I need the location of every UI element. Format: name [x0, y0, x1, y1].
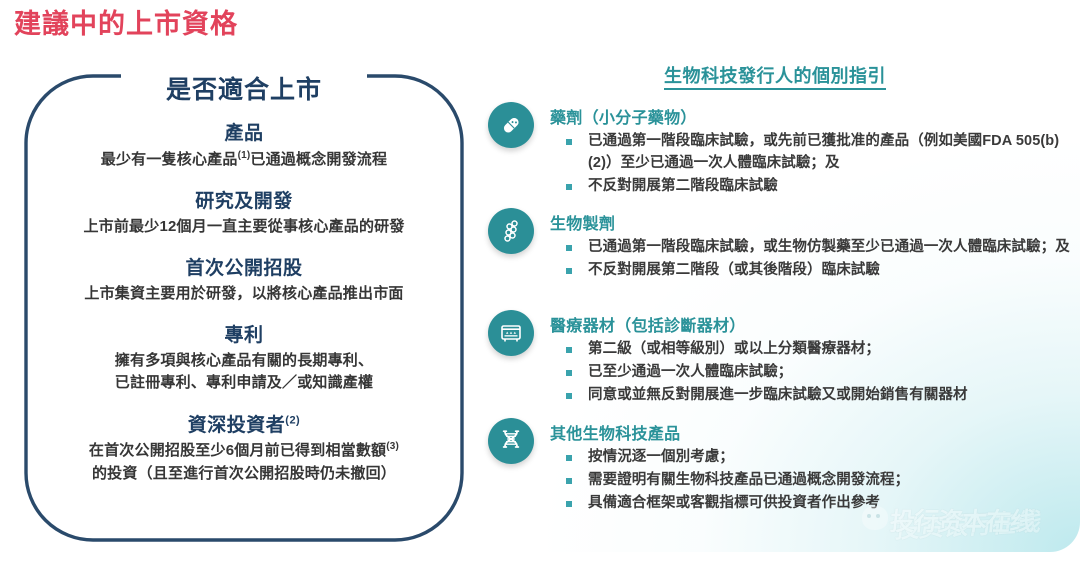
list-item: 需要證明有關生物科技產品已通過概念開發流程；	[564, 470, 1078, 492]
page-title: 建議中的上市資格	[14, 2, 238, 41]
right-panel-title: 生物科技發行人的個別指引	[470, 62, 1080, 88]
criterion-desc: 上市前最少12個月一直主要從事核心產品的研發	[26, 216, 462, 239]
list-item: 第二級（或相等級別）或以上分類醫療器材；	[564, 339, 1078, 361]
footnote-ref-3: (3)	[386, 441, 399, 452]
criterion-product: 產品 最少有一隻核心產品(1)已通過概念開發流程	[26, 120, 462, 171]
guidance-group-title: 藥劑（小分子藥物）	[550, 104, 1078, 128]
molecule-chain-icon	[488, 208, 534, 254]
criterion-rnd: 研究及開發 上市前最少12個月一直主要從事核心產品的研發	[26, 188, 462, 238]
criterion-ipo: 首次公開招股 上市集資主要用於研發，以將核心產品推出市面	[26, 255, 462, 305]
left-panel-heading-wrap: 是否適合上市	[121, 70, 367, 106]
list-item: 已通過第一階段臨床試驗，或先前已獲批准的產品（例如美國FDA 505(b)(2)…	[564, 131, 1078, 175]
criterion-desc-line1: 在首次公開招股至少6個月前已得到相當數額(3)	[26, 439, 462, 463]
right-panel-title-text: 生物科技發行人的個別指引	[664, 66, 886, 90]
criterion-desc-pre: 在首次公開招股至少6個月前已得到相當數額	[89, 442, 386, 459]
criterion-desc: 上市集資主要用於研發，以將核心產品推出市面	[26, 283, 462, 306]
criterion-sophisticated-investor: 資深投資者(2) 在首次公開招股至少6個月前已得到相當數額(3) 的投資（且至進…	[26, 412, 462, 486]
medical-device-icon	[488, 310, 534, 356]
footnote-ref-2: (2)	[285, 414, 300, 426]
list-item: 不反對開展第二階段（或其後階段）臨床試驗	[564, 260, 1078, 282]
guidance-group-body: 其他生物科技產品 按情況逐一個別考慮； 需要證明有關生物科技產品已通過概念開發流…	[550, 420, 1078, 515]
left-panel-body: 產品 最少有一隻核心產品(1)已通過概念開發流程 研究及開發 上市前最少12個月…	[26, 120, 462, 502]
slide-root: 建議中的上市資格 是否適合上市 產品 最少有一隻核心產品(1)已通過概念開發流程…	[0, 0, 1080, 562]
guidance-group-body: 藥劑（小分子藥物） 已通過第一階段臨床試驗，或先前已獲批准的產品（例如美國FDA…	[550, 104, 1078, 198]
criterion-title-text: 資深投資者	[188, 415, 286, 436]
left-panel-heading: 是否適合上市	[121, 70, 367, 106]
guidance-bullet-list: 已通過第一階段臨床試驗，或生物仿製藥至少已通過一次人體臨床試驗；及 不反對開展第…	[550, 237, 1078, 282]
criterion-desc-post: 已通過概念開發流程	[250, 151, 387, 168]
list-item: 按情況逐一個別考慮；	[564, 447, 1078, 469]
guidance-group-title: 其他生物科技產品	[550, 420, 1078, 444]
list-item: 已至少通過一次人體臨床試驗；	[564, 362, 1078, 384]
criterion-title: 產品	[26, 120, 462, 148]
guidance-bullet-list: 按情況逐一個別考慮； 需要證明有關生物科技產品已通過概念開發流程； 具備適合框架…	[550, 447, 1078, 514]
guidance-group-body: 生物製劑 已通過第一階段臨床試驗，或生物仿製藥至少已通過一次人體臨床試驗；及 不…	[550, 210, 1078, 283]
guidance-bullet-list: 第二級（或相等級別）或以上分類醫療器材； 已至少通過一次人體臨床試驗； 同意或並…	[550, 339, 1078, 406]
criterion-desc: 最少有一隻核心產品(1)已通過概念開發流程	[26, 148, 462, 172]
criterion-desc-line2: 的投資（且至進行首次公開招股時仍未撤回）	[26, 463, 462, 486]
criterion-title: 資深投資者(2)	[26, 412, 462, 440]
list-item: 同意或並無反對開展進一步臨床試驗又或開始銷售有關器材	[564, 385, 1078, 407]
right-panel: 生物科技發行人的個別指引 藥劑（小分子藥物） 已通過第一階段臨床試驗，或	[470, 40, 1080, 562]
list-item: 具備適合框架或客觀指標可供投資者作出參考	[564, 493, 1078, 515]
dna-helix-icon	[488, 418, 534, 464]
list-item: 已通過第一階段臨床試驗，或生物仿製藥至少已通過一次人體臨床試驗；及	[564, 237, 1078, 259]
left-panel: 是否適合上市 產品 最少有一隻核心產品(1)已通過概念開發流程 研究及開發 上市…	[18, 68, 470, 548]
criterion-desc-pre: 最少有一隻核心產品	[101, 151, 238, 168]
criterion-desc-line2: 已註冊專利、專利申請及／或知識產權	[26, 372, 462, 395]
guidance-group-title: 醫療器材（包括診斷器材）	[550, 312, 1078, 336]
guidance-bullet-list: 已通過第一階段臨床試驗，或先前已獲批准的產品（例如美國FDA 505(b)(2)…	[550, 131, 1078, 197]
list-item: 不反對開展第二階段臨床試驗	[564, 176, 1078, 198]
guidance-group-body: 醫療器材（包括診斷器材） 第二級（或相等級別）或以上分類醫療器材； 已至少通過一…	[550, 312, 1078, 407]
footnote-ref-1: (1)	[238, 150, 251, 161]
criterion-title: 研究及開發	[26, 188, 462, 216]
guidance-group-title: 生物製劑	[550, 210, 1078, 234]
criterion-title: 首次公開招股	[26, 255, 462, 283]
criterion-desc-line1: 擁有多項與核心產品有關的長期專利、	[26, 350, 462, 373]
pill-capsule-icon	[488, 102, 534, 148]
criterion-title: 專利	[26, 322, 462, 350]
criterion-patent: 專利 擁有多項與核心產品有關的長期專利、 已註冊專利、專利申請及／或知識產權	[26, 322, 462, 395]
